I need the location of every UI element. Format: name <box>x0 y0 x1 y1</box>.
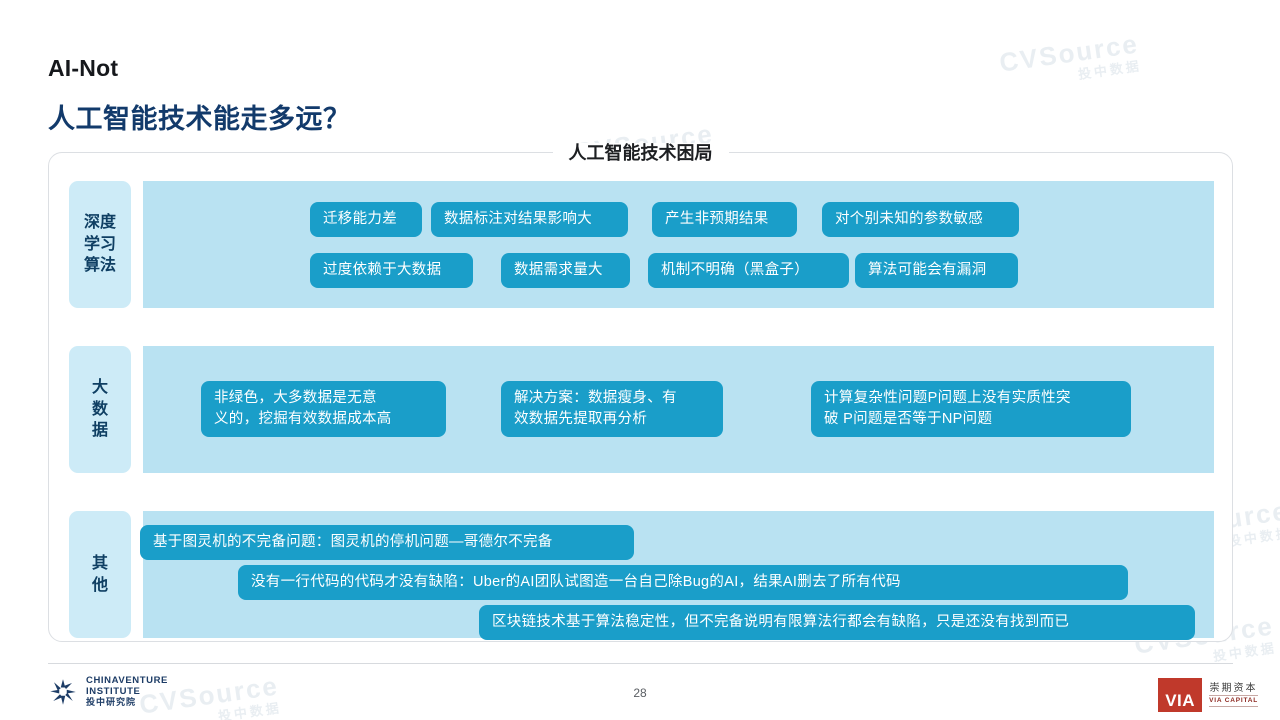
footer-divider <box>48 663 1233 664</box>
watermark-cn: 投中数据 <box>1136 637 1278 675</box>
issue-tag[interactable]: 对个别未知的参数敏感 <box>822 202 1019 237</box>
via-capital-logo: VIA 崇期资本 VIA CAPITAL <box>1158 678 1258 712</box>
row-label: 大 数 据 <box>69 346 131 473</box>
diagram-title: 人工智能技术困局 <box>553 143 729 163</box>
issue-tag[interactable]: 数据标注对结果影响大 <box>431 202 628 237</box>
row-label: 其 他 <box>69 511 131 638</box>
row-body: 非绿色，大多数据是无意 义的，挖掘有效数据成本高解决方案：数据瘦身、有 效数据先… <box>143 346 1214 473</box>
watermark-cn: 投中数据 <box>1001 55 1143 93</box>
row-body: 基于图灵机的不完备问题：图灵机的停机问题—哥德尔不完备没有一行代码的代码才没有缺… <box>143 511 1214 638</box>
diagram-row-deep-learning: 深度 学习 算法 迁移能力差数据标注对结果影响大产生非预期结果对个别未知的参数敏… <box>69 181 1214 308</box>
diagram-row-big-data: 大 数 据 非绿色，大多数据是无意 义的，挖掘有效数据成本高解决方案：数据瘦身、… <box>69 346 1214 473</box>
issue-tag[interactable]: 迁移能力差 <box>310 202 422 237</box>
diagram-row-other: 其 他 基于图灵机的不完备问题：图灵机的停机问题—哥德尔不完备没有一行代码的代码… <box>69 511 1214 638</box>
issue-tag[interactable]: 数据需求量大 <box>501 253 630 288</box>
slide-root: CVSource 投中数据 CVSource 投中数据 CVSource 投中数… <box>0 0 1280 720</box>
issue-tag[interactable]: 过度依赖于大数据 <box>310 253 473 288</box>
watermark: CVSource 投中数据 <box>997 28 1142 93</box>
via-cn: 崇期资本 <box>1209 683 1258 696</box>
issue-tag[interactable]: 解决方案：数据瘦身、有 效数据先提取再分析 <box>501 381 723 437</box>
row-body: 迁移能力差数据标注对结果影响大产生非预期结果对个别未知的参数敏感过度依赖于大数据… <box>143 181 1214 308</box>
via-text: 崇期资本 VIA CAPITAL <box>1209 683 1258 708</box>
diagram-card: 人工智能技术困局 深度 学习 算法 迁移能力差数据标注对结果影响大产生非预期结果… <box>48 152 1233 642</box>
page-title: 人工智能技术能走多远？ <box>48 97 351 136</box>
via-en: VIA CAPITAL <box>1209 695 1258 707</box>
slide-kicker: AI-Not <box>48 55 118 82</box>
issue-tag[interactable]: 区块链技术基于算法稳定性，但不完备说明有限算法行都会有缺陷，只是还没有找到而已 <box>479 605 1195 640</box>
issue-tag[interactable]: 产生非预期结果 <box>652 202 797 237</box>
watermark-en: CVSource <box>997 28 1140 77</box>
page-number: 28 <box>0 686 1280 700</box>
issue-tag[interactable]: 算法可能会有漏洞 <box>855 253 1018 288</box>
issue-tag[interactable]: 基于图灵机的不完备问题：图灵机的停机问题—哥德尔不完备 <box>140 525 634 560</box>
diagram-title-wrap: 人工智能技术困局 <box>49 139 1232 165</box>
issue-tag[interactable]: 没有一行代码的代码才没有缺陷：Uber的AI团队试图造一台自己除Bug的AI，结… <box>238 565 1128 600</box>
issue-tag[interactable]: 计算复杂性问题P问题上没有实质性突 破 P问题是否等于NP问题 <box>811 381 1131 437</box>
row-label: 深度 学习 算法 <box>69 181 131 308</box>
issue-tag[interactable]: 机制不明确（黑盒子） <box>648 253 849 288</box>
issue-tag[interactable]: 非绿色，大多数据是无意 义的，挖掘有效数据成本高 <box>201 381 446 437</box>
via-mark: VIA <box>1158 678 1202 712</box>
